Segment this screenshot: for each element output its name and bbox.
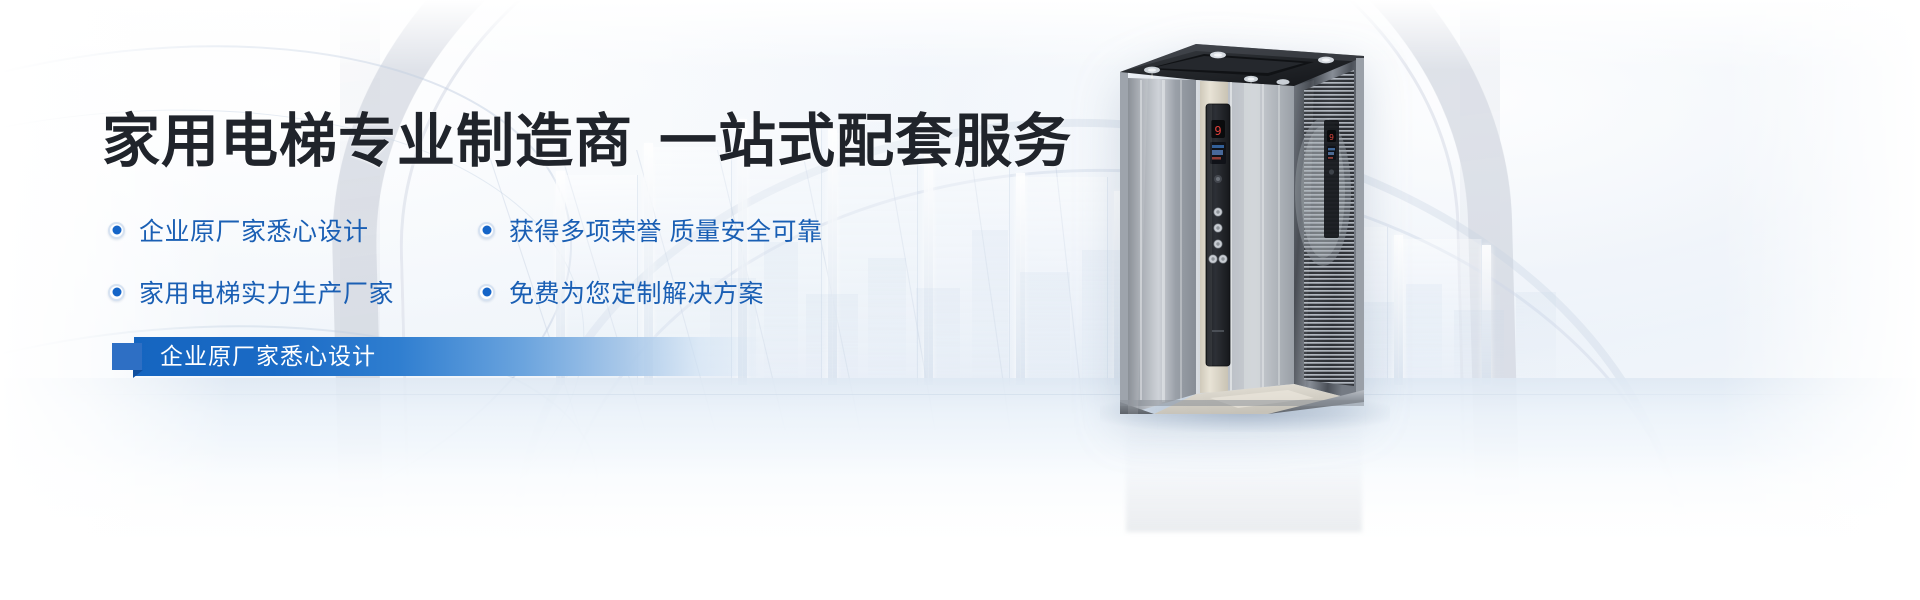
ribbon-label: 企业原厂家悉心设计 bbox=[160, 337, 376, 376]
list-item: 免费为您定制解决方案 bbox=[478, 274, 968, 310]
svg-text:9: 9 bbox=[1214, 124, 1221, 138]
list-item: 获得多项荣誉 质量安全可靠 bbox=[478, 212, 968, 248]
headline-part-1: 家用电梯专业制造商 bbox=[102, 109, 633, 174]
promo-banner: 9 9 bbox=[0, 0, 1920, 600]
bullet-label: 获得多项荣誉 质量安全可靠 bbox=[509, 212, 822, 248]
bullet-dot-icon bbox=[108, 284, 125, 301]
bullet-dot-icon bbox=[108, 222, 125, 239]
page-title: 家用电梯专业制造商一站式配套服务 bbox=[102, 113, 1072, 171]
list-item: 企业原厂家悉心设计 bbox=[108, 212, 478, 248]
banner-copy: 家用电梯专业制造商一站式配套服务 企业原厂家悉心设计 获得多项荣誉 质量安全可靠… bbox=[100, 0, 1100, 600]
city-block bbox=[1406, 284, 1442, 390]
bullet-dot-icon bbox=[478, 284, 495, 301]
list-item: 家用电梯实力生产厂家 bbox=[108, 274, 478, 310]
highlight-ribbon: 企业原厂家悉心设计 bbox=[112, 337, 762, 376]
headline-part-2: 一站式配套服务 bbox=[659, 109, 1072, 174]
home-elevator-cabin-image: 9 9 bbox=[1118, 42, 1366, 414]
svg-text:9: 9 bbox=[1329, 133, 1334, 142]
feature-bullet-list: 企业原厂家悉心设计 获得多项荣誉 质量安全可靠 家用电梯实力生产厂家 免费为您定… bbox=[108, 212, 968, 310]
ribbon-tab-icon bbox=[112, 343, 142, 370]
bullet-label: 家用电梯实力生产厂家 bbox=[139, 274, 394, 310]
bullet-label: 企业原厂家悉心设计 bbox=[139, 212, 369, 248]
city-block bbox=[1516, 292, 1556, 390]
bullet-label: 免费为您定制解决方案 bbox=[509, 274, 764, 310]
bullet-dot-icon bbox=[478, 222, 495, 239]
